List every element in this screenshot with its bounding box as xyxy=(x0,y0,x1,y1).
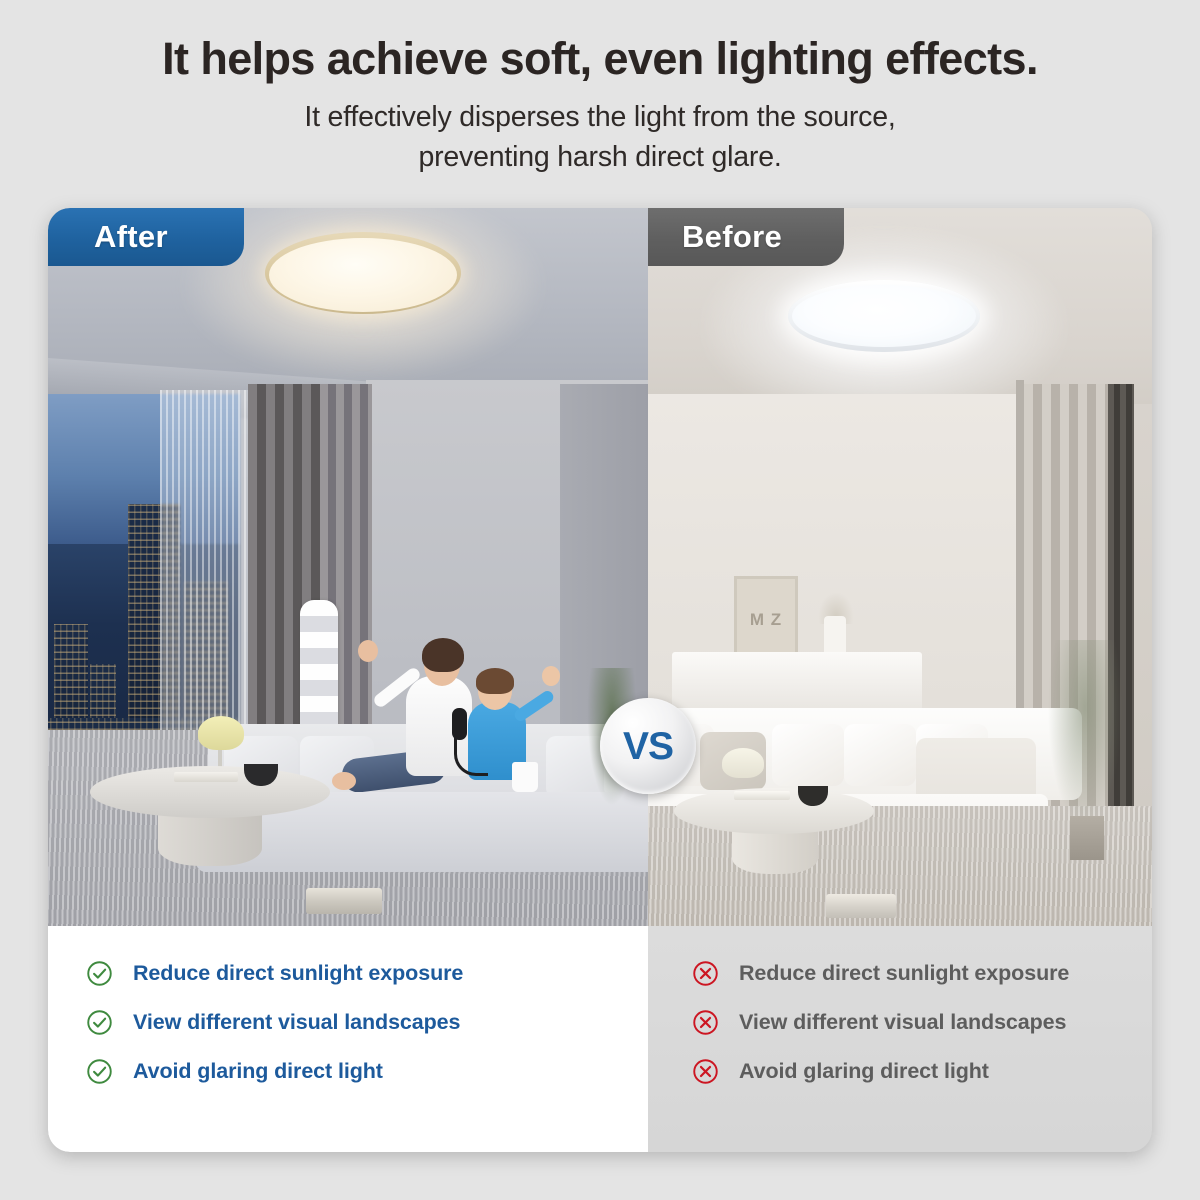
tab-after[interactable]: After xyxy=(48,208,244,266)
feature-label: Reduce direct sunlight exposure xyxy=(133,961,463,986)
x-circle-icon xyxy=(692,1009,719,1036)
adult-hair xyxy=(422,638,464,672)
pillow xyxy=(772,724,844,786)
books-on-table xyxy=(174,772,238,782)
plant-pot-before xyxy=(1070,816,1104,860)
feature-list-before: Reduce direct sunlight exposure View dif… xyxy=(648,926,1152,1152)
plant-before xyxy=(1044,640,1126,840)
lamp-diffuser xyxy=(792,285,976,347)
list-item: Reduce direct sunlight exposure xyxy=(692,960,1152,987)
books-on-rug xyxy=(826,894,896,918)
list-item: View different visual landscapes xyxy=(86,1009,648,1036)
microphone-icon xyxy=(452,708,467,740)
lamp-diffuser xyxy=(269,238,457,312)
table-lamp-after xyxy=(198,716,244,750)
child-hair xyxy=(476,668,514,694)
check-circle-icon xyxy=(86,960,113,987)
header: It helps achieve soft, even lighting eff… xyxy=(0,0,1200,177)
feature-label: View different visual landscapes xyxy=(133,1010,460,1035)
adult-foot xyxy=(332,772,356,790)
check-circle-icon xyxy=(86,1009,113,1036)
tab-before-label: Before xyxy=(682,219,782,255)
x-circle-icon xyxy=(692,960,719,987)
child-hand xyxy=(542,666,560,686)
panel-after: After Reduce direct sunlight exposure Vi xyxy=(48,208,648,1152)
comparison-container: After Reduce direct sunlight exposure Vi xyxy=(48,208,1152,1152)
feature-list-after: Reduce direct sunlight exposure View dif… xyxy=(48,926,648,1152)
books-on-rug xyxy=(306,888,382,914)
warm-ceiling-light xyxy=(253,224,473,334)
tab-after-label: After xyxy=(94,219,168,255)
wall-art-label: M Z xyxy=(737,579,795,661)
panel-before: M Z xyxy=(648,208,1152,1152)
harsh-ceiling-light xyxy=(778,274,988,364)
subtitle-line-2: preventing harsh direct glare. xyxy=(0,138,1200,177)
vs-label: VS xyxy=(623,727,673,766)
cup xyxy=(512,762,538,792)
x-circle-icon xyxy=(692,1058,719,1085)
people-singing-karaoke xyxy=(336,608,566,798)
adult-hand xyxy=(358,640,378,662)
feature-label: View different visual landscapes xyxy=(739,1010,1066,1035)
infographic-page: It helps achieve soft, even lighting eff… xyxy=(0,0,1200,1200)
list-item: Avoid glaring direct light xyxy=(86,1058,648,1085)
vs-badge: VS xyxy=(600,698,696,794)
scene-after xyxy=(48,208,648,926)
list-item: View different visual landscapes xyxy=(692,1009,1152,1036)
pillow xyxy=(844,724,916,786)
page-title: It helps achieve soft, even lighting eff… xyxy=(0,34,1200,84)
scene-before: M Z xyxy=(648,208,1152,926)
check-circle-icon xyxy=(86,1058,113,1085)
wall-art-before: M Z xyxy=(734,576,798,664)
console-table-before xyxy=(672,652,922,710)
tab-before[interactable]: Before xyxy=(648,208,844,266)
list-item: Avoid glaring direct light xyxy=(692,1058,1152,1085)
subtitle-line-1: It effectively disperses the light from … xyxy=(0,98,1200,137)
feature-label: Avoid glaring direct light xyxy=(133,1059,383,1084)
table-lamp-before xyxy=(722,748,764,778)
list-item: Reduce direct sunlight exposure xyxy=(86,960,648,987)
feature-label: Reduce direct sunlight exposure xyxy=(739,961,1069,986)
feature-label: Avoid glaring direct light xyxy=(739,1059,989,1084)
books-on-table xyxy=(734,791,790,800)
child-arm xyxy=(512,689,555,724)
page-subtitle: It effectively disperses the light from … xyxy=(0,98,1200,177)
